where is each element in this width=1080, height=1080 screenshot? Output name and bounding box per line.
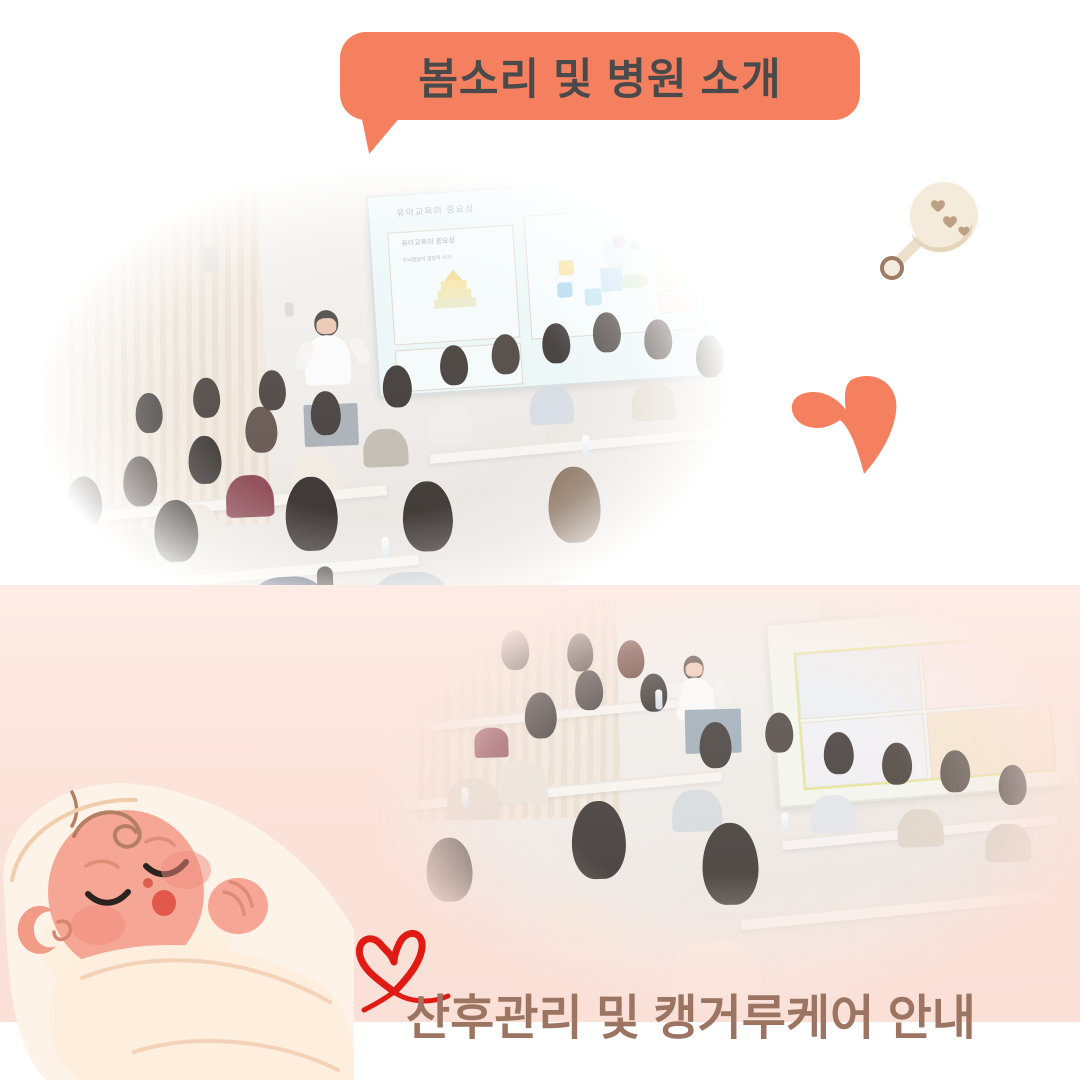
poster-canvas: 유아교육의 중요성 유아교육의 중요성 두뇌발달의 결정적 시기 [0, 0, 1080, 1080]
coral-heart-icon [788, 372, 908, 477]
sleeping-baby-illustration [0, 770, 356, 1080]
speech-bubble[interactable]: 봄소리 및 병원 소개 [340, 32, 860, 120]
lecture-photo-bottom [355, 587, 1080, 1025]
photo-tone-overlay [10, 154, 757, 632]
lecture-photo-top: 유아교육의 중요성 유아교육의 중요성 두뇌발달의 결정적 시기 [10, 154, 757, 632]
page-title: 봄소리 및 병원 소개 [418, 45, 781, 107]
speech-bubble-tail [355, 114, 403, 154]
baby-rattle-icon [868, 176, 988, 286]
footer-title: 산후관리 및 캥거루케어 안내 [406, 978, 976, 1048]
